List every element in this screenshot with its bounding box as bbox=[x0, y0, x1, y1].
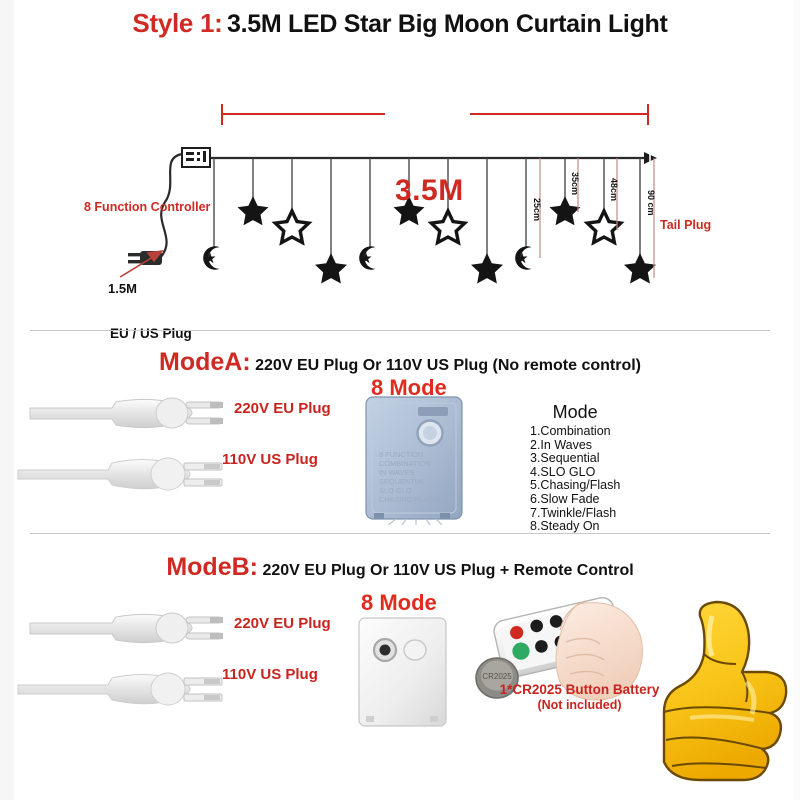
svg-text:SLO GLO: SLO GLO bbox=[379, 486, 412, 495]
total-length-label: 3.5M bbox=[395, 174, 464, 208]
drop-length-35: 35cm bbox=[570, 172, 580, 195]
mode-a-eight-mode-label: 8 Mode bbox=[371, 375, 447, 401]
mode-b-header: ModeB: 220V EU Plug Or 110V US Plug + Re… bbox=[0, 553, 800, 582]
tail-plug-icon bbox=[644, 152, 657, 164]
controller-box-b-image bbox=[359, 618, 446, 726]
drop-length-48: 48cm bbox=[609, 178, 619, 201]
mode-b-description: 220V EU Plug Or 110V US Plug + Remote Co… bbox=[262, 562, 633, 579]
drop-length-25: 25cm bbox=[532, 198, 542, 221]
divider-2 bbox=[30, 533, 770, 534]
mode-a-description: 220V EU Plug Or 110V US Plug (No remote … bbox=[255, 357, 641, 374]
page-title: Style 1: 3.5M LED Star Big Moon Curtain … bbox=[0, 8, 800, 39]
list-item: 4.SLO GLO bbox=[530, 466, 620, 480]
svg-text:8 FUNCTION: 8 FUNCTION bbox=[379, 450, 423, 459]
mode-b-us-plug-label: 110V US Plug bbox=[222, 666, 318, 683]
list-item: 5.Chasing/Flash bbox=[530, 479, 620, 493]
mode-b-colon: : bbox=[250, 553, 258, 581]
mode-b-eu-plug-label: 220V EU Plug bbox=[234, 615, 331, 632]
divider-1 bbox=[30, 330, 770, 331]
mode-b-letter: B bbox=[232, 553, 250, 581]
list-item: 7.Twinkle/Flash bbox=[530, 507, 620, 521]
mode-list-heading: Mode bbox=[530, 402, 620, 423]
svg-text:SEQUENTIAL: SEQUENTIAL bbox=[379, 477, 426, 486]
mode-list-items: 1.Combination 2.In Waves 3.Sequential 4.… bbox=[530, 425, 620, 534]
curtain-light-diagram: 8 Function Controller Tail Plug 1.5M EU … bbox=[0, 62, 800, 322]
drop-length-90: 90 cm bbox=[646, 190, 656, 216]
moon-ornament bbox=[203, 246, 219, 269]
us-plug-image bbox=[18, 458, 222, 490]
mode-a-eu-plug-label: 220V EU Plug bbox=[234, 400, 331, 417]
mode-a-us-plug-label: 110V US Plug bbox=[222, 451, 318, 468]
svg-text:CR2025: CR2025 bbox=[482, 672, 512, 681]
us-plug-image-b bbox=[18, 673, 222, 705]
list-item: 1.Combination bbox=[530, 425, 620, 439]
battery-note: 1*CR2025 Button Battery (Not included) bbox=[472, 682, 687, 713]
tail-plug-label: Tail Plug bbox=[660, 218, 711, 232]
list-item: 2.In Waves bbox=[530, 439, 620, 453]
eu-plug-image-b bbox=[30, 613, 223, 643]
battery-line-1: 1*CR2025 Button Battery bbox=[500, 682, 660, 697]
star-filled-ornament bbox=[238, 196, 269, 225]
mode-a-letter: A bbox=[224, 348, 242, 376]
mode-b-eight-mode-label: 8 Mode bbox=[361, 590, 437, 616]
mode-a-word: Mode bbox=[159, 348, 224, 376]
eu-us-plug-label: EU / US Plug bbox=[110, 326, 192, 341]
controller-box-icon bbox=[182, 148, 210, 167]
style-label: Style 1: bbox=[132, 8, 222, 38]
svg-text:CHASING/FLASH: CHASING/FLASH bbox=[379, 495, 439, 504]
length-dimension-line bbox=[222, 104, 648, 125]
mode-list: Mode 1.Combination 2.In Waves 3.Sequenti… bbox=[530, 402, 620, 534]
svg-text:IN WAVES: IN WAVES bbox=[379, 468, 414, 477]
lead-length-label: 1.5M bbox=[108, 281, 137, 296]
mode-a-header: ModeA: 220V EU Plug Or 110V US Plug (No … bbox=[0, 348, 800, 377]
list-item: 6.Slow Fade bbox=[530, 493, 620, 507]
controller-box-a-image: 8 FUNCTION COMBINATION IN WAVES SEQUENTI… bbox=[366, 397, 462, 525]
list-item: 8.Steady On bbox=[530, 520, 620, 534]
product-title: 3.5M LED Star Big Moon Curtain Light bbox=[227, 10, 668, 38]
mode-b-word: Mode bbox=[166, 553, 231, 581]
star-outline-ornament bbox=[275, 211, 308, 243]
mode-a-colon: : bbox=[242, 348, 250, 376]
controller-label: 8 Function Controller bbox=[84, 200, 210, 214]
svg-text:COMBINATION: COMBINATION bbox=[379, 459, 431, 468]
infographic-page: Style 1: 3.5M LED Star Big Moon Curtain … bbox=[0, 0, 800, 800]
eu-plug-image bbox=[30, 398, 223, 428]
battery-line-2: (Not included) bbox=[537, 698, 621, 712]
list-item: 3.Sequential bbox=[530, 452, 620, 466]
